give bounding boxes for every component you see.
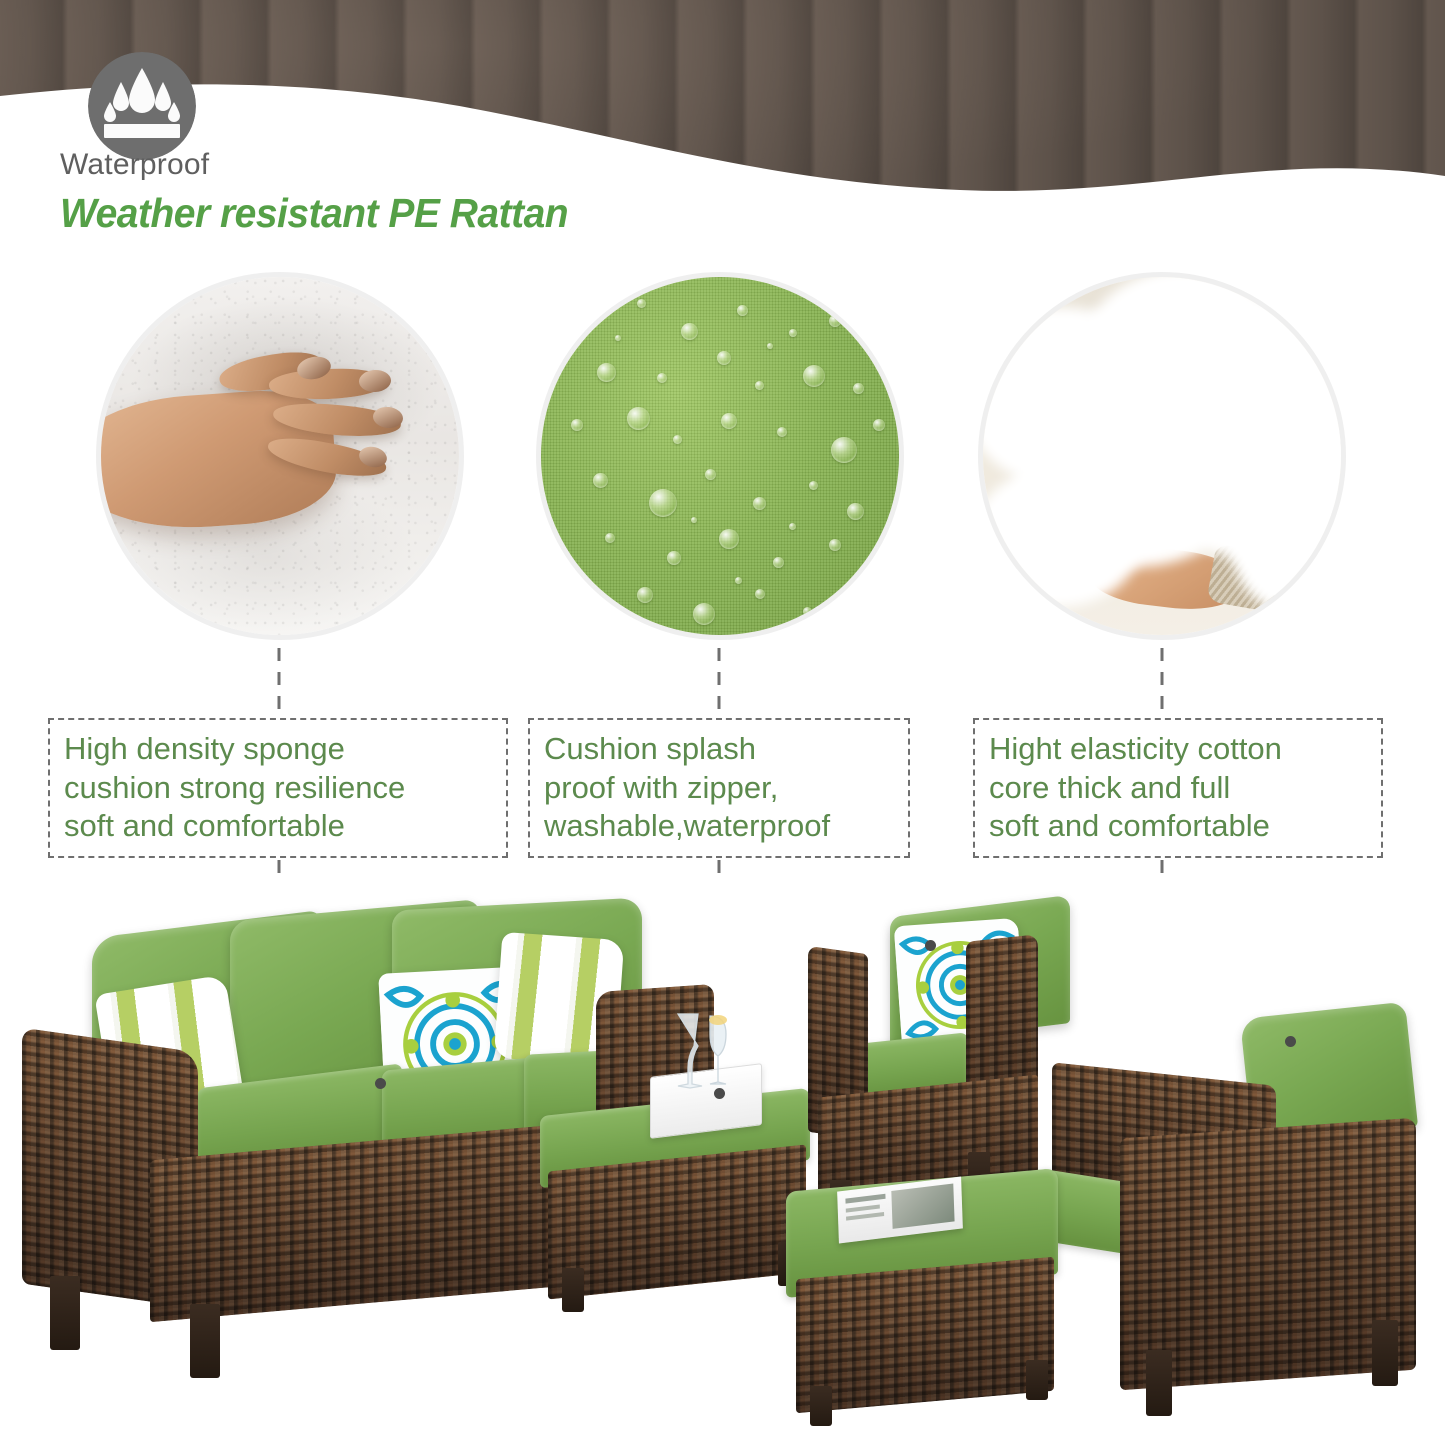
anchor-dot-sofa [375, 1078, 386, 1089]
callout-cushion-splash-proof: Cushion splash proof with zipper, washab… [528, 718, 910, 858]
anchor-dot-armchair-right [1285, 1036, 1296, 1047]
furniture-scene [0, 880, 1445, 1445]
callout-high-density-sponge: High density sponge cushion strong resil… [48, 718, 508, 858]
callout-text: High density sponge cushion strong resil… [50, 726, 405, 849]
waterproof-label: Waterproof [60, 148, 209, 182]
hero-banner: Waterproof Weather resistant PE Rattan [0, 0, 1445, 262]
anchor-dot-ottoman [714, 1088, 725, 1099]
hero-title: Weather resistant PE Rattan [60, 190, 568, 237]
feature-image-cushion-splash-proof [536, 272, 904, 640]
infographic-page: Waterproof Weather resistant PE Rattan [0, 0, 1445, 1445]
callout-text: Hight elasticity cotton core thick and f… [975, 726, 1282, 849]
callout-text: Cushion splash proof with zipper, washab… [530, 726, 830, 849]
callout-high-elasticity-cotton: Hight elasticity cotton core thick and f… [973, 718, 1383, 858]
glassware [660, 1006, 756, 1102]
waterproof-droplets-icon [88, 52, 196, 160]
feature-image-high-elasticity-cotton [978, 272, 1346, 640]
anchor-dot-armchair-left [925, 940, 936, 951]
feature-image-high-density-sponge [96, 272, 464, 640]
